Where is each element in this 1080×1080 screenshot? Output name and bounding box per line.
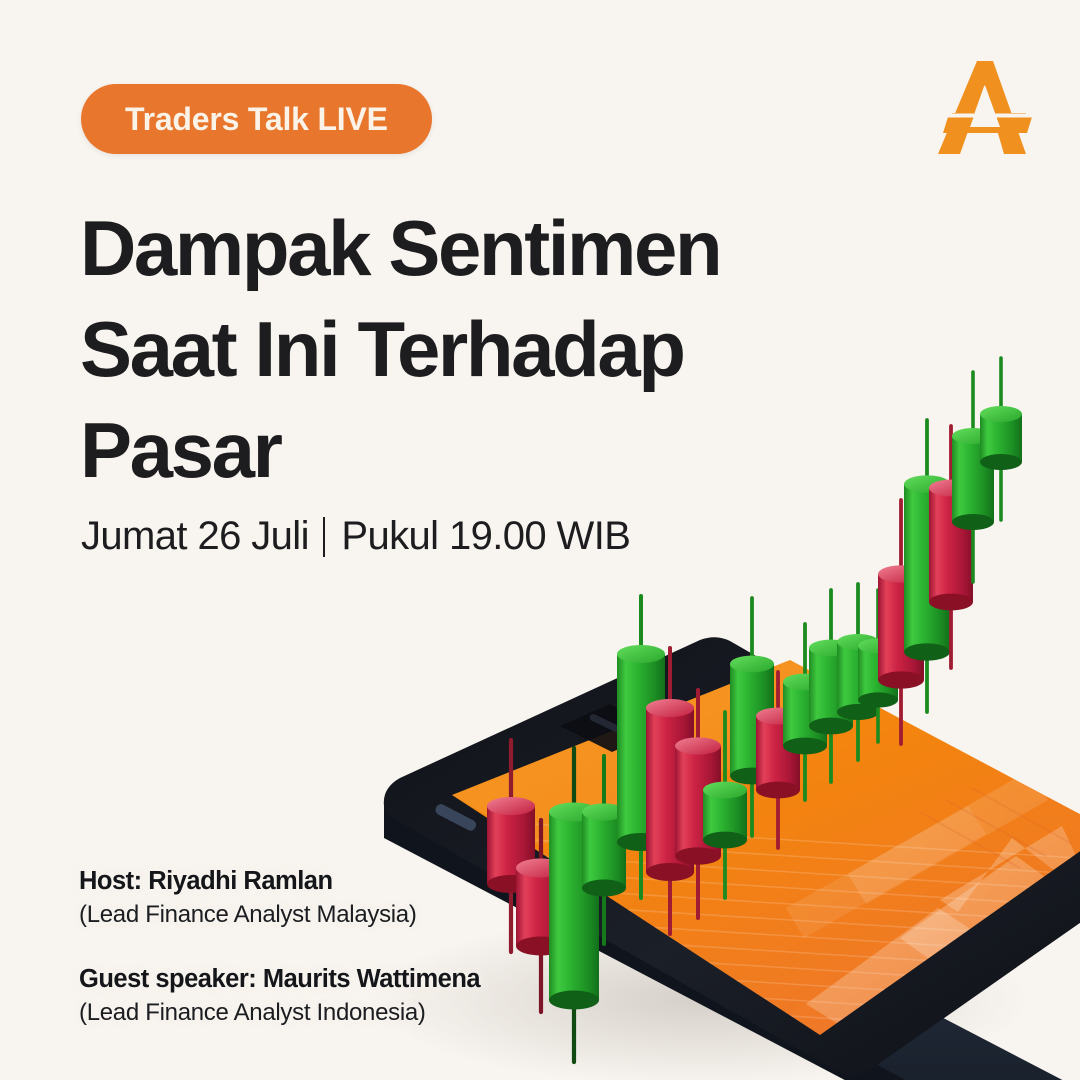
title-line-2: Saat Ini Terhadap [80, 299, 800, 400]
promo-poster: Traders Talk LIVE Dampak Sentimen Saat I… [0, 0, 1080, 1080]
title-line-1: Dampak Sentimen [80, 198, 800, 299]
speakers-block: Host: Riyadhi Ramlan (Lead Finance Analy… [79, 866, 480, 1028]
host-entry: Host: Riyadhi Ramlan (Lead Finance Analy… [79, 866, 480, 930]
title-line-3: Pasar [80, 400, 800, 501]
host-role: (Lead Finance Analyst Malaysia) [79, 901, 480, 930]
page-title: Dampak Sentimen Saat Ini Terhadap Pasar [80, 198, 800, 501]
schedule-date: Jumat 26 Juli [81, 514, 309, 559]
schedule-separator [323, 517, 326, 557]
live-badge-label: Traders Talk LIVE [125, 101, 388, 138]
schedule-line: Jumat 26 Juli Pukul 19.00 WIB [81, 514, 630, 559]
host-name: Host: Riyadhi Ramlan [79, 866, 480, 897]
guest-speaker-entry: Guest speaker: Maurits Wattimena (Lead F… [79, 964, 480, 1028]
guest-speaker-name: Guest speaker: Maurits Wattimena [79, 964, 480, 995]
guest-speaker-role: (Lead Finance Analyst Indonesia) [79, 999, 480, 1028]
axi-a-logo-icon [930, 55, 1048, 160]
live-badge[interactable]: Traders Talk LIVE [81, 84, 432, 154]
schedule-time: Pukul 19.00 WIB [341, 514, 630, 559]
